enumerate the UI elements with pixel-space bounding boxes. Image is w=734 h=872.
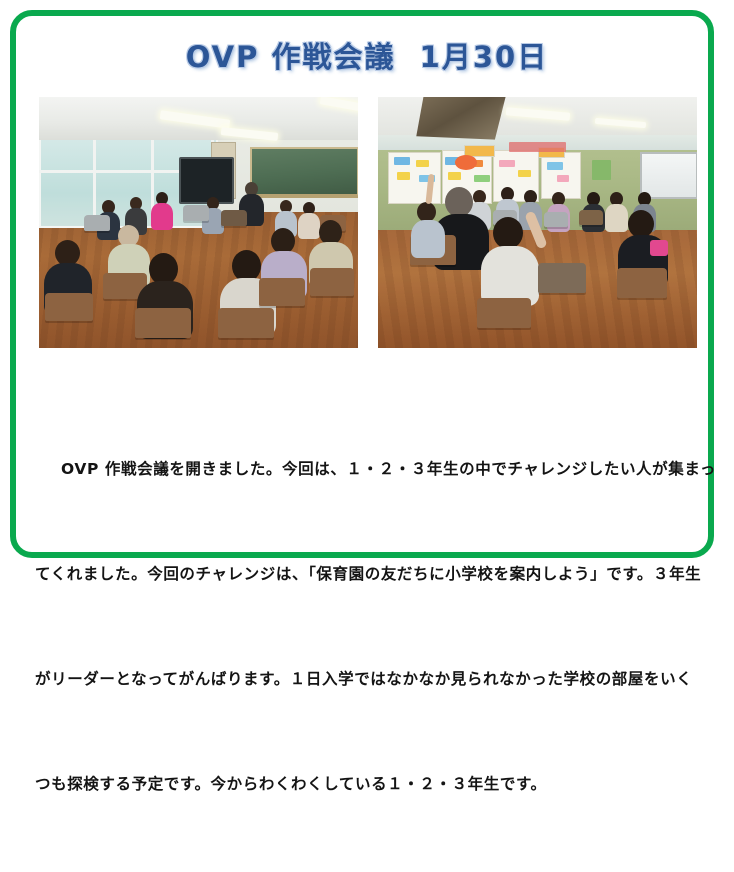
article-line: OVP 作戦会議を開きました。今回は、１・２・３年生の中でチャレンジしたい人が集…: [35, 452, 701, 487]
sticky-note: [448, 172, 461, 180]
article-line: てくれました。今回のチャレンジは、「保育園の友だちに小学校を案内しよう」です。３…: [35, 557, 701, 592]
sticky-note-round: [455, 155, 477, 170]
chair: [617, 268, 667, 298]
chair: [310, 268, 354, 296]
sticky-note: [499, 160, 515, 168]
photo-classroom-left: [39, 97, 358, 348]
chair: [218, 308, 274, 338]
article-body: OVP 作戦会議を開きました。今回は、１・２・３年生の中でチャレンジしたい人が集…: [35, 382, 701, 872]
tree-decoration: [416, 97, 505, 140]
chair-empty: [538, 263, 586, 293]
chair: [544, 212, 568, 227]
wall-poster: [592, 160, 611, 180]
chair: [183, 205, 209, 221]
newsletter-page: OVP 作戦会議 1月30日: [0, 0, 734, 578]
photo-row: [39, 97, 697, 348]
chair: [45, 293, 93, 321]
chair: [477, 298, 531, 328]
page-title: OVP 作戦会議 1月30日: [186, 34, 548, 76]
whiteboard: [640, 152, 697, 199]
photo-classroom-right: [378, 97, 697, 348]
wall-banner: [509, 142, 566, 152]
sticky-note: [394, 157, 410, 165]
sticky-note: [518, 170, 531, 178]
page-title-container: OVP 作戦会議 1月30日: [0, 34, 734, 76]
chair: [221, 210, 247, 226]
article-line: がリーダーとなってがんばります。１日入学ではなかなか見られなかった学校の部屋をい…: [35, 662, 701, 697]
sticky-note: [557, 175, 570, 183]
sticky-note: [547, 162, 563, 170]
chair: [135, 308, 191, 338]
sticky-note: [474, 175, 490, 183]
sticky-note: [416, 160, 429, 168]
display-monitor: [179, 157, 234, 204]
chalkboard: [250, 147, 358, 198]
sticky-note: [397, 172, 410, 180]
article-line: つも探検する予定です。今からわくわくしている１・２・３年生です。: [35, 767, 701, 802]
chair: [84, 215, 110, 231]
chair: [259, 278, 305, 306]
chair: [579, 210, 603, 225]
